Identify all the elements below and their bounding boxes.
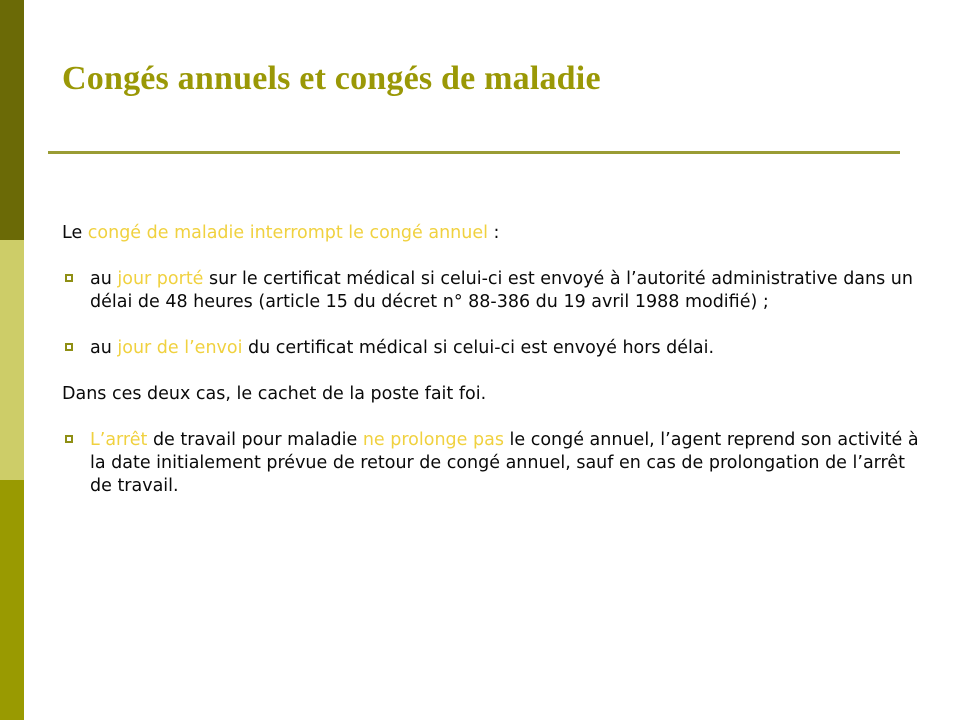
- bullet-item-1: au jour porté sur le certificat médical …: [62, 268, 922, 314]
- intro-lead-text: Le: [62, 223, 88, 243]
- bullet-item-3: L’arrêt de travail pour maladie ne prolo…: [62, 429, 922, 498]
- presentation-slide: Congés annuels et congés de maladie Le c…: [0, 0, 960, 720]
- spacer: [62, 245, 922, 268]
- middle-paragraph: Dans ces deux cas, le cachet de la poste…: [62, 383, 922, 406]
- bullet-3-highlight-1-text: L’arrêt: [90, 430, 147, 450]
- bullet-item-2: au jour de l’envoi du certificat médical…: [62, 337, 922, 360]
- intro-paragraph: Le congé de maladie interrompt le congé …: [62, 222, 922, 245]
- intro-tail-text: :: [488, 223, 499, 243]
- sidebar-segment-bottom: [0, 480, 24, 720]
- spacer: [62, 314, 922, 337]
- bullet-2-tail-text: du certificat médical si celui-ci est en…: [242, 338, 714, 358]
- bullet-3-highlight-2-text: ne prolonge pas: [363, 430, 504, 450]
- spacer: [62, 406, 922, 429]
- bullet-2-highlight-text: jour de l’envoi: [117, 338, 242, 358]
- sidebar-segment-top: [0, 0, 24, 240]
- spacer: [62, 360, 922, 383]
- bullet-1-tail-text: sur le certificat médical si celui-ci es…: [90, 269, 913, 312]
- slide-body: Le congé de maladie interrompt le congé …: [62, 222, 922, 498]
- bullet-1-highlight-text: jour porté: [117, 269, 203, 289]
- bullet-3-mid-text: de travail pour maladie: [147, 430, 362, 450]
- bullet-1-lead-text: au: [90, 269, 117, 289]
- title-divider: [48, 151, 900, 154]
- intro-highlight-text: congé de maladie interrompt le congé ann…: [88, 223, 488, 243]
- square-bullet-icon: [65, 274, 73, 282]
- slide-title: Congés annuels et congés de maladie: [62, 58, 912, 100]
- slide-decoration-sidebar: [0, 0, 24, 720]
- square-bullet-icon: [65, 435, 73, 443]
- square-bullet-icon: [65, 343, 73, 351]
- sidebar-segment-middle: [0, 240, 24, 480]
- sidebar-gutter: [24, 0, 30, 720]
- bullet-2-lead-text: au: [90, 338, 117, 358]
